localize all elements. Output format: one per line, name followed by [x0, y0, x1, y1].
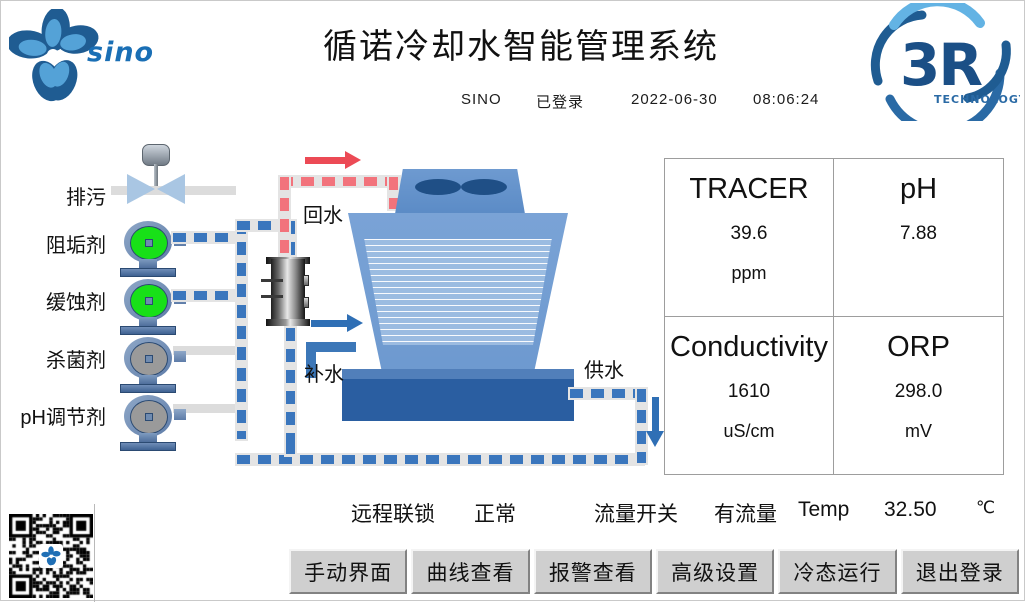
label-return-water: 回水: [303, 199, 343, 228]
pump-hub-icon: [145, 355, 153, 363]
system-time: 08:06:24: [753, 91, 819, 108]
vessel-bottom-flange-icon: [266, 319, 310, 326]
equipment-label-corrosion-inhibitor: 缓蚀剂: [21, 286, 106, 315]
pipe-from-vessel-down: [286, 328, 295, 444]
svg-text:TECHNOLOGY: TECHNOLOGY: [934, 93, 1020, 106]
vessel-flange-icon: [303, 297, 309, 308]
measurement-name: Conductivity: [670, 329, 828, 365]
measurement-unit: ppm: [731, 263, 766, 284]
measurement-value: 39.6: [731, 223, 768, 245]
pump-corrosion-inhibitor[interactable]: [118, 279, 178, 337]
pump-base-icon: [120, 442, 176, 451]
pipe-loop-bottom-main: [237, 455, 643, 464]
pipe-loop-left-riser: [237, 221, 246, 439]
system-date: 2022-06-30: [631, 91, 718, 108]
page-title: 循诺冷却水智能管理系统: [291, 19, 751, 68]
tower-fan-icon: [415, 179, 507, 195]
temp-label: Temp: [798, 498, 849, 522]
qr-center-logo-icon: [39, 544, 63, 568]
manual-interface-button[interactable]: 手动界面: [289, 549, 407, 594]
pump-hub-icon: [145, 297, 153, 305]
measurement-value: 1610: [728, 381, 770, 403]
measurement-unit: mV: [905, 421, 932, 442]
pipe-bottom-join: [286, 441, 295, 457]
pump-neck-icon: [139, 433, 157, 442]
qr-code: [9, 514, 93, 598]
temp-unit: ℃: [976, 498, 995, 518]
measurement-cell-tracer[interactable]: TRACER 39.6 ppm: [665, 159, 834, 317]
plant-status-row: 远程联锁 正常 流量开关 有流量 Temp 32.50 ℃: [351, 498, 1011, 528]
navigation-button-bar: 手动界面 曲线查看 报警查看 高级设置 冷态运行 退出登录: [289, 549, 1019, 594]
pump-base-icon: [120, 384, 176, 393]
pump-hub-icon: [145, 239, 153, 247]
measurement-panel: TRACER 39.6 ppm pH 7.88 Conductivity 161…: [664, 158, 1004, 475]
sino-logo-text: sino: [87, 37, 154, 68]
pipe-supply-water-down: [637, 389, 646, 463]
flow-switch-value: 有流量: [714, 498, 777, 528]
measurement-value: 7.88: [900, 223, 937, 245]
measurement-cell-conductivity[interactable]: Conductivity 1610 uS/cm: [665, 317, 834, 475]
measurement-value: 298.0: [895, 381, 943, 403]
blowdown-valve[interactable]: [121, 144, 191, 204]
measurement-name: pH: [900, 171, 937, 207]
pump-hub-icon: [145, 413, 153, 421]
hmi-screen: sino 3R TECHNOLOGY 循诺冷却水智能管理系统 SINO 已登录 …: [0, 0, 1025, 601]
pump-neck-icon: [139, 375, 157, 384]
equipment-label-biocide: 杀菌剂: [21, 344, 106, 373]
pump-base-icon: [120, 326, 176, 335]
remote-interlock-value: 正常: [474, 498, 516, 528]
measurement-unit: uS/cm: [723, 421, 774, 442]
side-stream-filter[interactable]: [263, 251, 313, 333]
header-status-bar: SINO 已登录 2022-06-30 08:06:24: [456, 91, 906, 115]
measurement-cell-ph[interactable]: pH 7.88: [834, 159, 1003, 317]
label-makeup-water: 补水: [304, 358, 344, 387]
pump-neck-icon: [139, 317, 157, 326]
vessel-shell-icon: [271, 259, 305, 325]
pump-outlet-icon: [174, 409, 186, 420]
flow-switch-label: 流量开关: [594, 498, 678, 528]
footer-divider: [94, 504, 95, 602]
login-status-badge: 已登录: [536, 91, 584, 112]
advanced-settings-button[interactable]: 高级设置: [656, 549, 774, 594]
logout-button[interactable]: 退出登录: [901, 549, 1019, 594]
measurement-name: TRACER: [689, 171, 808, 207]
pump-neck-icon: [139, 259, 157, 268]
svg-text:3R: 3R: [900, 31, 982, 99]
pump-ph-adjuster[interactable]: [118, 395, 178, 453]
pipe-corrosion-inhibitor-active: [173, 291, 239, 300]
pump-antiscalant[interactable]: [118, 221, 178, 279]
tower-basin-rim-icon: [342, 369, 574, 379]
remote-interlock-label: 远程联锁: [351, 498, 435, 528]
measurement-cell-orp[interactable]: ORP 298.0 mV: [834, 317, 1003, 475]
valve-actuator-icon: [142, 144, 170, 166]
pump-biocide[interactable]: [118, 337, 178, 395]
trend-view-button[interactable]: 曲线查看: [411, 549, 529, 594]
temp-value: 32.50: [884, 498, 937, 522]
label-supply-water: 供水: [584, 354, 624, 383]
equipment-label-ph-adjuster: pH调节剂: [6, 401, 106, 430]
alarm-view-button[interactable]: 报警查看: [534, 549, 652, 594]
valve-body-left-icon: [127, 174, 155, 204]
current-user: SINO: [461, 91, 502, 108]
cooling-tower[interactable]: [333, 169, 583, 424]
vessel-flange-icon: [303, 275, 309, 286]
sino-logo: sino: [9, 9, 184, 104]
equipment-label-antiscalant: 阻垢剂: [21, 229, 106, 258]
measurement-name: ORP: [887, 329, 950, 365]
tower-basin-icon: [342, 379, 574, 421]
valve-body-right-icon: [157, 174, 185, 204]
cold-start-button[interactable]: 冷态运行: [778, 549, 896, 594]
pipe-antiscalant-active: [173, 233, 239, 242]
pump-outlet-icon: [174, 351, 186, 362]
equipment-label-blowdown: 排污: [21, 181, 106, 210]
vessel-nozzle-icon: [261, 279, 283, 282]
vessel-nozzle-icon: [261, 295, 283, 298]
pump-base-icon: [120, 268, 176, 277]
